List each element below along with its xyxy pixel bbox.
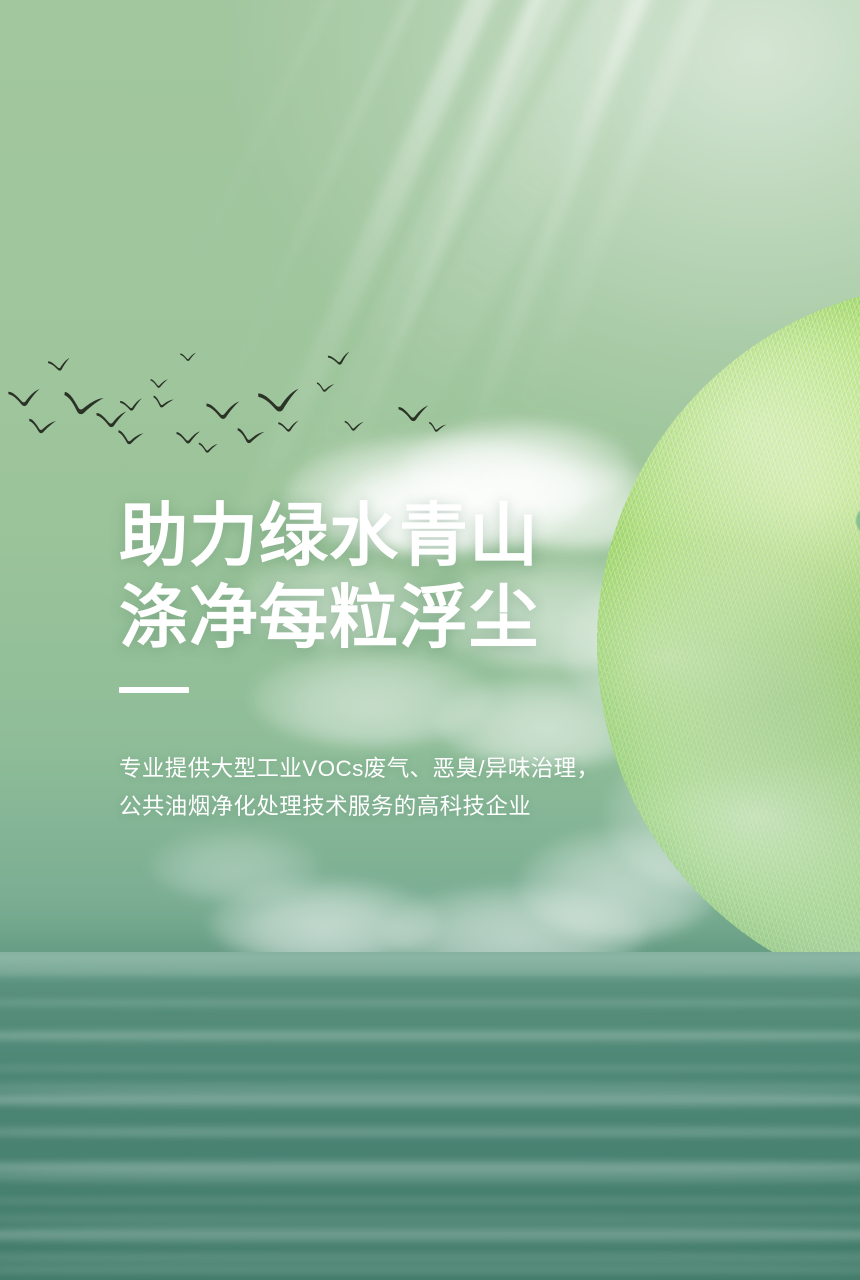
light-ray: [218, 0, 697, 568]
water-ripple: [0, 1028, 860, 1044]
subtitle-line-2: 公共油烟净化处理技术服务的高科技企业: [119, 788, 759, 826]
water-ripple: [0, 1196, 860, 1206]
water-ripple: [0, 1166, 860, 1173]
subtitle-line-1: 专业提供大型工业VOCs废气、恶臭/异味治理，: [119, 750, 759, 788]
water-ripple: [0, 966, 860, 979]
bird-icon: [427, 421, 447, 434]
bird-icon: [205, 398, 242, 422]
light-ray: [206, 0, 629, 430]
bird-icon: [47, 356, 73, 374]
hero-content: 助力绿水青山 涤净每粒浮尘 专业提供大型工业VOCs废气、恶臭/异味治理， 公共…: [119, 495, 759, 826]
bird-icon: [95, 409, 129, 430]
bird-icon: [116, 429, 145, 448]
bird-icon: [180, 351, 198, 362]
bird-icon: [277, 419, 300, 434]
water-ripple: [0, 1264, 860, 1276]
water-ripple: [0, 1090, 860, 1110]
cloud: [520, 830, 720, 940]
water-ripple: [0, 1064, 860, 1073]
water-ripple: [0, 998, 860, 1008]
light-ray: [308, 0, 860, 559]
bird-icon: [119, 396, 145, 413]
light-ray: [152, 0, 568, 344]
bird-icon: [198, 441, 219, 454]
water-surface: [0, 952, 860, 1280]
bird-icon: [151, 394, 175, 411]
bird-icon: [7, 386, 43, 409]
light-ray: [510, 0, 860, 428]
bird-icon: [397, 403, 431, 424]
light-ray: [441, 0, 823, 495]
bird-icon: [27, 417, 57, 436]
bird-icon: [235, 426, 266, 446]
bird-icon: [344, 420, 365, 433]
bird-icon: [176, 429, 202, 445]
bird-icon: [150, 378, 169, 389]
water-ripple: [0, 1224, 860, 1246]
bird-icon: [60, 389, 106, 420]
bird-icon: [256, 385, 303, 417]
cloud: [150, 830, 320, 900]
water-ripple: [0, 1128, 860, 1139]
bird-icon: [327, 350, 353, 369]
continent-shape: [856, 499, 860, 542]
headline-divider: [119, 687, 189, 693]
light-ray: [319, 0, 728, 525]
poster-canvas: 助力绿水青山 涤净每粒浮尘 专业提供大型工业VOCs废气、恶臭/异味治理， 公共…: [0, 0, 860, 1280]
bird-icon: [316, 381, 336, 394]
headline-line-2: 涤净每粒浮尘: [119, 577, 759, 659]
headline-line-1: 助力绿水青山: [119, 495, 759, 577]
